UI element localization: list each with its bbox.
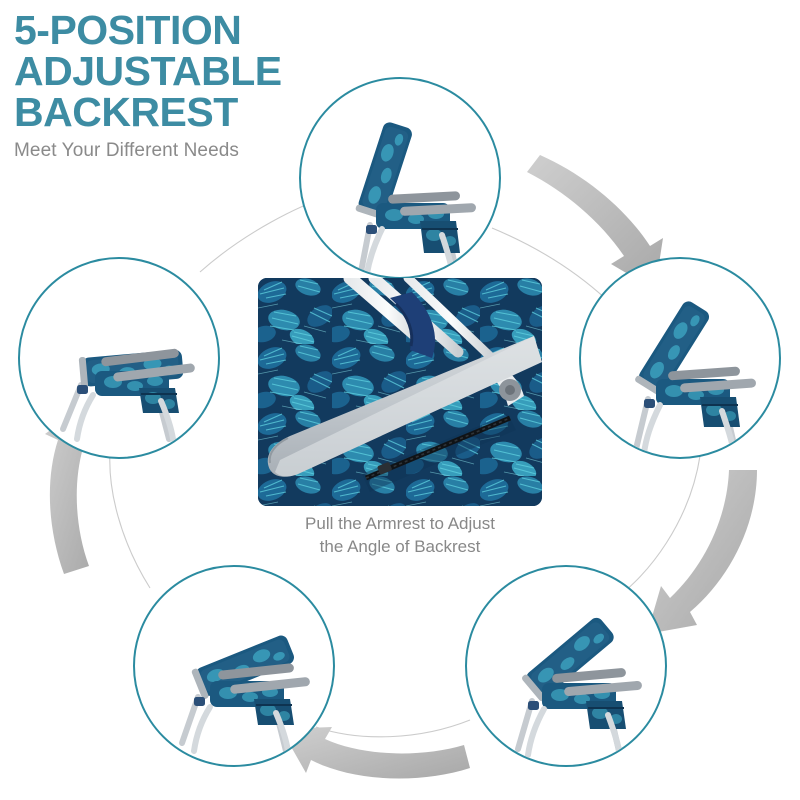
caption-line-2: the Angle of Backrest [228,535,572,558]
title-line-1: 5-POSITION [14,10,434,51]
position-1-upright[interactable] [299,77,501,279]
position-2-slight[interactable] [579,257,781,459]
chair-illustration-3 [467,567,667,767]
position-3-reclined[interactable] [465,565,667,767]
caption-line-1: Pull the Armrest to Adjust [228,512,572,535]
center-caption: Pull the Armrest to Adjust the Angle of … [228,512,572,558]
infographic-canvas: 5-POSITION ADJUSTABLE BACKREST Meet Your… [0,0,800,800]
position-5-flat[interactable] [18,257,220,459]
chair-illustration-5 [20,259,220,459]
chair-illustration-4 [135,567,335,767]
armrest-closeup-illustration [258,278,542,506]
position-4-more-reclined[interactable] [133,565,335,767]
armrest-closeup-photo [258,278,542,506]
chair-illustration-1 [301,79,501,279]
chair-illustration-2 [581,259,781,459]
